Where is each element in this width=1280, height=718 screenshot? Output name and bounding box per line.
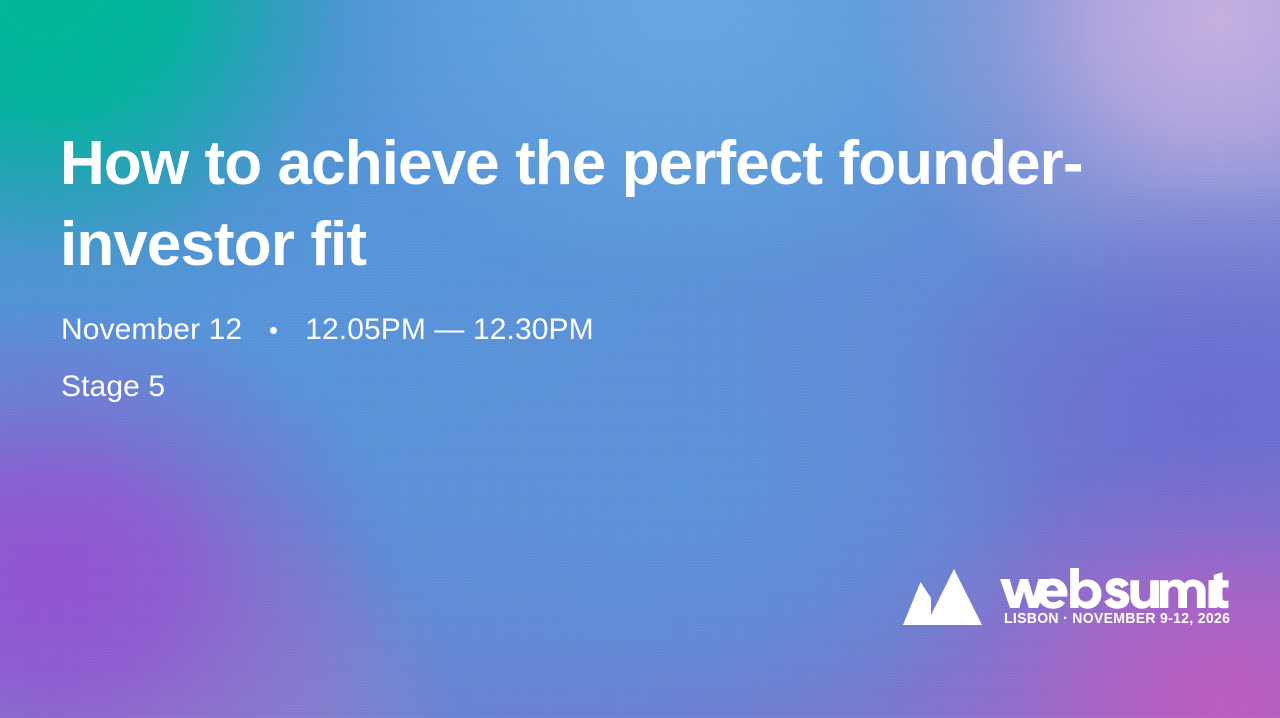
- mountains-icon: [895, 568, 983, 626]
- session-slide: How to achieve the perfect founder-inves…: [0, 0, 1280, 718]
- session-time-range: 12.05PM — 12.30PM: [305, 313, 594, 347]
- session-title: How to achieve the perfect founder-inves…: [60, 124, 1150, 285]
- meta-separator-dot: [270, 327, 277, 334]
- websummit-wordmark: [998, 566, 1230, 610]
- logo-textblock: LISBON · NOVEMBER 9-12, 2026: [997, 566, 1230, 627]
- logo-tagline: LISBON · NOVEMBER 9-12, 2026: [1004, 612, 1230, 627]
- websummit-logo: LISBON · NOVEMBER 9-12, 2026: [895, 566, 1230, 627]
- session-meta: November 12 12.05PM — 12.30PM: [61, 313, 594, 347]
- session-stage: Stage 5: [61, 370, 165, 404]
- session-date: November 12: [61, 313, 242, 347]
